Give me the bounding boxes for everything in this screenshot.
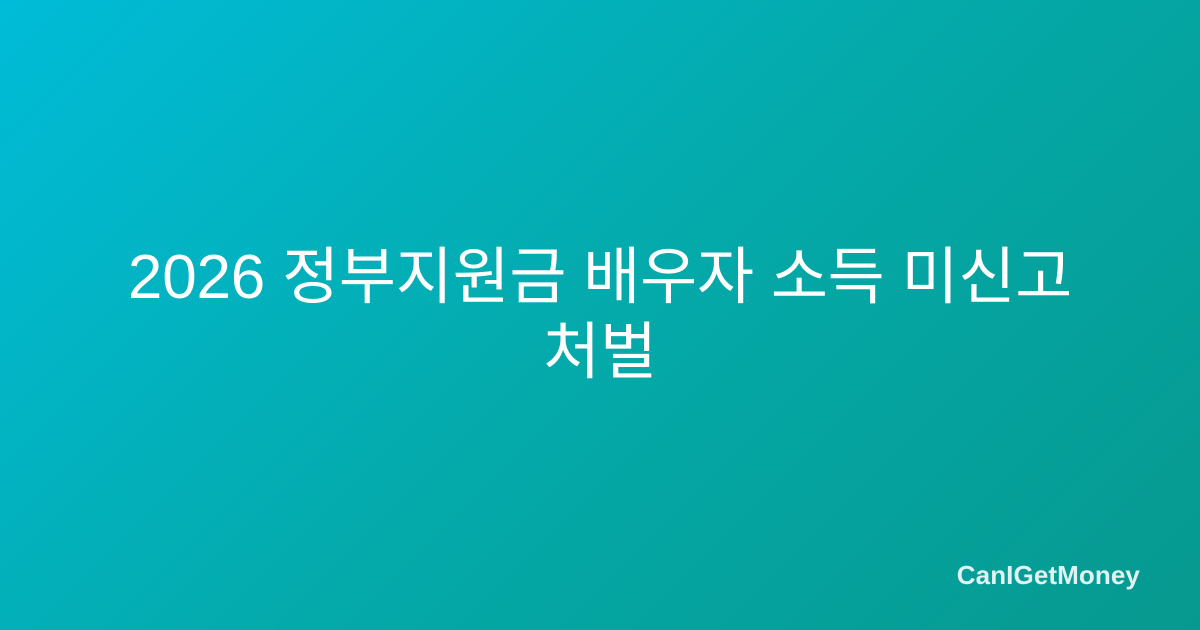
og-card: 2026 정부지원금 배우자 소득 미신고 처벌 CanIGetMoney [0, 0, 1200, 630]
brand-watermark: CanIGetMoney [957, 562, 1140, 588]
page-title: 2026 정부지원금 배우자 소득 미신고 처벌 [100, 240, 1100, 390]
headline-container: 2026 정부지원금 배우자 소득 미신고 처벌 [0, 240, 1200, 390]
